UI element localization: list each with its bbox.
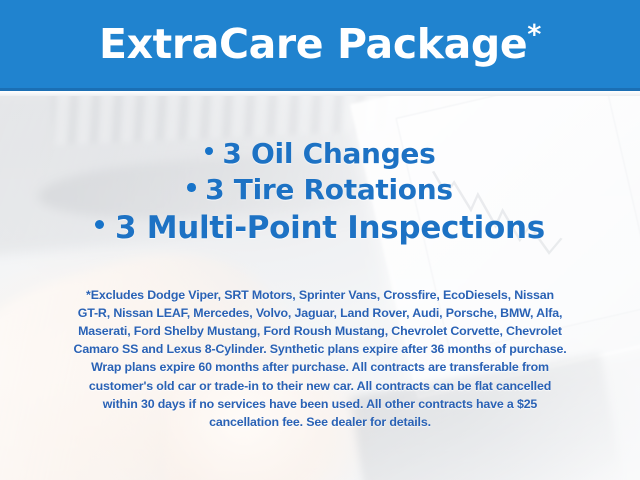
- benefit-label: 3 Oil Changes: [222, 137, 435, 170]
- disclaimer-line: Maserati, Ford Shelby Mustang, Ford Rous…: [20, 322, 620, 340]
- benefits-list: 3 Oil Changes 3 Tire Rotations 3 Multi-P…: [0, 138, 640, 247]
- header-underline-divider: [0, 91, 640, 96]
- benefit-item-multi-point-inspections: 3 Multi-Point Inspections: [0, 211, 640, 247]
- disclaimer-text: *Excludes Dodge Viper, SRT Motors, Sprin…: [20, 286, 620, 431]
- page-title-text: ExtraCare Package: [99, 20, 527, 68]
- disclaimer-line: Wrap plans expire 60 months after purcha…: [20, 358, 620, 376]
- disclaimer-line: customer's old car or trade-in to their …: [20, 377, 620, 395]
- benefit-label: 3 Multi-Point Inspections: [115, 210, 545, 246]
- benefit-label: 3 Tire Rotations: [205, 173, 453, 206]
- disclaimer-line: within 30 days if no services have been …: [20, 395, 620, 413]
- benefit-item-tire-rotations: 3 Tire Rotations: [0, 174, 640, 206]
- disclaimer-line: GT-R, Nissan LEAF, Mercedes, Volvo, Jagu…: [20, 304, 620, 322]
- page-title-asterisk: *: [527, 19, 541, 50]
- bullet-dot-icon: [205, 147, 213, 155]
- disclaimer-line: *Excludes Dodge Viper, SRT Motors, Sprin…: [20, 286, 620, 304]
- bullet-dot-icon: [95, 220, 104, 229]
- header-band: ExtraCare Package*: [0, 0, 640, 91]
- bullet-dot-icon: [187, 183, 195, 191]
- disclaimer-line: Camaro SS and Lexus 8-Cylinder. Syntheti…: [20, 340, 620, 358]
- page-title: ExtraCare Package*: [99, 24, 541, 65]
- extracare-package-ad: ExtraCare Package* 3 Oil Changes 3 Tire …: [0, 0, 640, 480]
- disclaimer-line: cancellation fee. See dealer for details…: [20, 413, 620, 431]
- benefit-item-oil-changes: 3 Oil Changes: [0, 138, 640, 170]
